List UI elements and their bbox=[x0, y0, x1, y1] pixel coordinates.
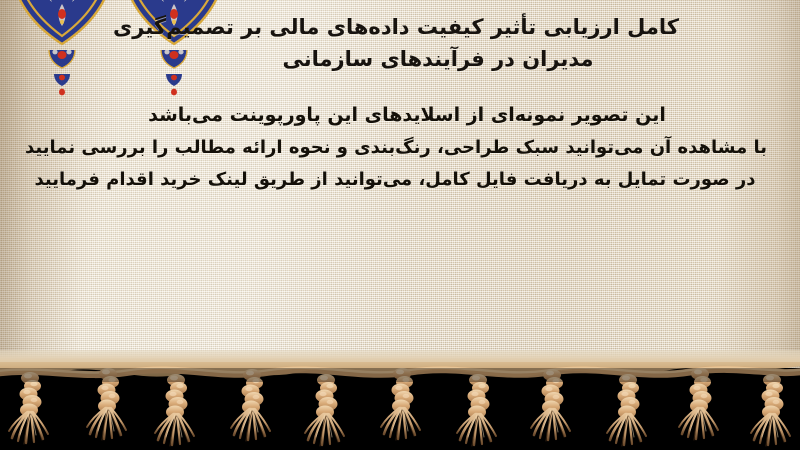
canvas-texture-background bbox=[0, 0, 800, 450]
slide-canvas: کامل ارزیابی تأثیر کیفیت داده‌های مالی ب… bbox=[0, 0, 800, 450]
